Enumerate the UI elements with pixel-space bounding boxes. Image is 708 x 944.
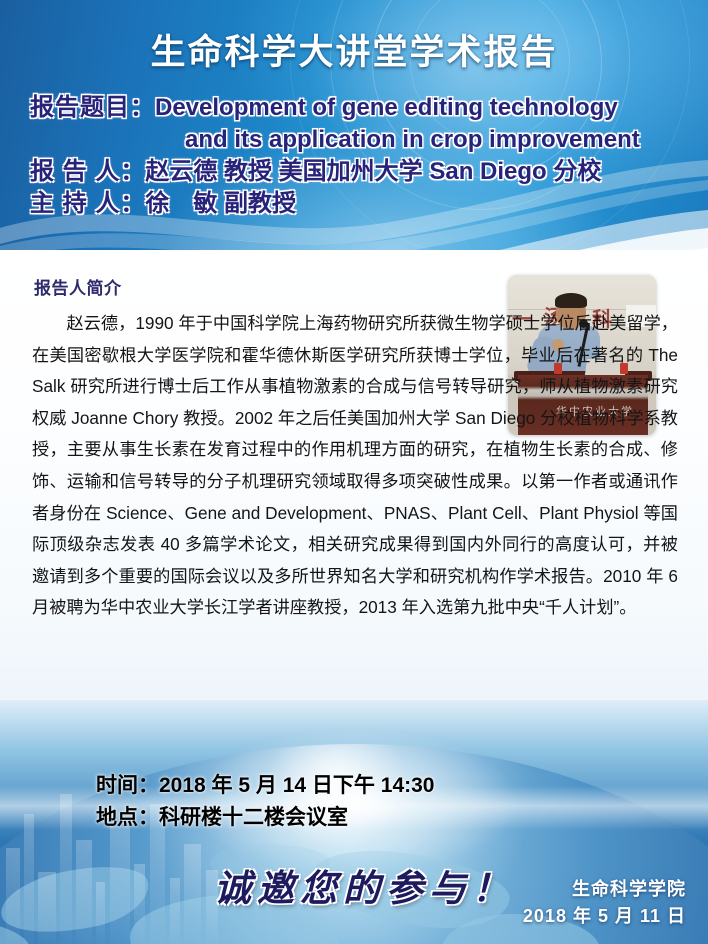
photo-speaker-hair [555, 293, 587, 308]
topic-line-1: 报告题目：Development of gene editing technol… [30, 92, 690, 124]
speaker-line: 报 告 人：赵云德 教授 美国加州大学 San Diego 分校 [30, 156, 690, 188]
speaker-label: 报 告 人： [30, 158, 145, 185]
signature-organization: 生命科学学院 [523, 876, 686, 902]
header-info-block: 报告题目：Development of gene editing technol… [30, 92, 690, 220]
event-location: 地点：科研楼十二楼会议室 [96, 802, 434, 834]
poster-root: 生命科学大讲堂学术报告 报告题目：Development of gene edi… [0, 0, 708, 944]
topic-line-2: and its application in crop improvement [30, 124, 690, 156]
event-time: 时间：2018 年 5 月 14 日下午 14:30 [96, 770, 434, 802]
section-heading-bio: 报告人简介 [34, 274, 122, 299]
page-title: 生命科学大讲堂学术报告 [0, 24, 708, 75]
topic-label: 报告题目： [30, 94, 155, 121]
bio-text-block: 赵云德，1990 年于中国科学院上海药物研究所获微生物学硕士学位后赴美留学，在美… [32, 308, 678, 624]
topic-text-1: Development of gene editing technology [155, 94, 618, 121]
bio-paragraph: 赵云德，1990 年于中国科学院上海药物研究所获微生物学硕士学位后赴美留学，在美… [32, 308, 678, 624]
invitation-calligraphy: 诚邀您的参与！ [214, 858, 515, 912]
event-details-block: 时间：2018 年 5 月 14 日下午 14:30 地点：科研楼十二楼会议室 [96, 770, 434, 834]
signature-date: 2018 年 5 月 11 日 [523, 902, 686, 930]
host-line: 主 持 人：徐 敏 副教授 [30, 188, 690, 220]
host-value: 徐 敏 副教授 [145, 190, 296, 217]
signature-block: 生命科学学院 2018 年 5 月 11 日 [523, 876, 686, 930]
host-label: 主 持 人： [30, 190, 145, 217]
speaker-value: 赵云德 教授 美国加州大学 San Diego 分校 [145, 158, 601, 185]
